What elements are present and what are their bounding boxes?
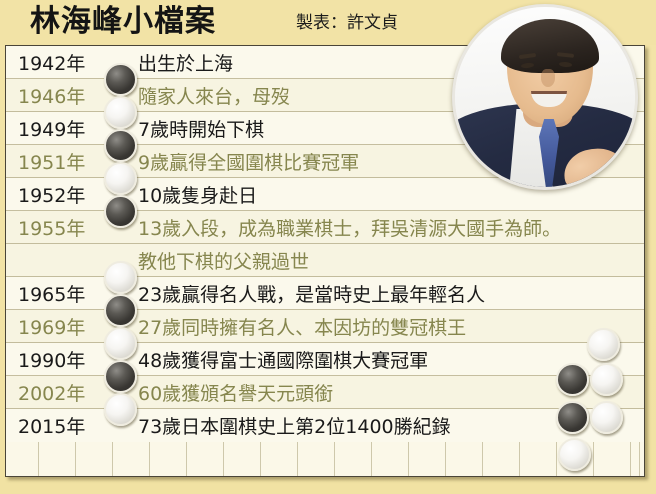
portrait-photo (452, 4, 638, 190)
go-stone-black (104, 129, 137, 162)
go-stone-white (104, 393, 137, 426)
go-stone-white (104, 96, 137, 129)
go-stone-black (104, 63, 137, 96)
row-year: 1949年 (18, 112, 106, 144)
row-description: 27歲同時擁有名人、本因坊的雙冠棋王 (138, 310, 640, 342)
table-row: 1990年48歲獲得富士通國際圍棋大賽冠軍 (6, 343, 644, 376)
go-stone-white (104, 261, 137, 294)
row-year: 1942年 (18, 46, 106, 78)
go-stone-black (104, 195, 137, 228)
row-year: 1951年 (18, 145, 106, 177)
decorative-go-stone-white (590, 401, 623, 434)
row-year: 1969年 (18, 310, 106, 342)
infographic-root: 林海峰小檔案 製表：許文貞 1942年出生於上海1946年隨家人來台，母歿194… (0, 0, 656, 494)
row-year: 1946年 (18, 79, 106, 111)
table-row: 2015年73歲日本圍棋史上第2位1400勝紀錄 (6, 409, 644, 442)
photo-nose (541, 69, 555, 87)
table-row: 1955年13歲入段，成為職業棋士，拜吳清源大國手為師。 (6, 211, 644, 244)
row-year: 1955年 (18, 211, 106, 243)
row-year: 2015年 (18, 409, 106, 442)
table-row: 1969年27歲同時擁有名人、本因坊的雙冠棋王 (6, 310, 644, 343)
row-year: 1952年 (18, 178, 106, 210)
decorative-go-stone-white (590, 363, 623, 396)
decorative-go-stone-black (556, 401, 589, 434)
row-description: 13歲入段，成為職業棋士，拜吳清源大國手為師。 (138, 211, 640, 243)
go-stone-white (104, 162, 137, 195)
table-row: 2002年60歲獲頒名譽天元頭銜 (6, 376, 644, 409)
row-year (18, 244, 106, 276)
row-description: 教他下棋的父親過世 (138, 244, 640, 276)
decorative-go-stone-black (556, 363, 589, 396)
row-description: 23歲贏得名人戰，是當時史上最年輕名人 (138, 277, 640, 309)
table-row: 教他下棋的父親過世 (6, 244, 644, 277)
row-year: 2002年 (18, 376, 106, 408)
row-year: 1990年 (18, 343, 106, 375)
table-row: 1965年23歲贏得名人戰，是當時史上最年輕名人 (6, 277, 644, 310)
page-title: 林海峰小檔案 (30, 2, 216, 42)
row-year: 1965年 (18, 277, 106, 309)
decorative-go-stone-white (558, 438, 591, 471)
byline-credit: 製表：許文貞 (296, 10, 398, 36)
go-stone-white (104, 327, 137, 360)
go-stone-black (104, 360, 137, 393)
go-stone-black (104, 294, 137, 327)
decorative-go-stone-white (587, 328, 620, 361)
